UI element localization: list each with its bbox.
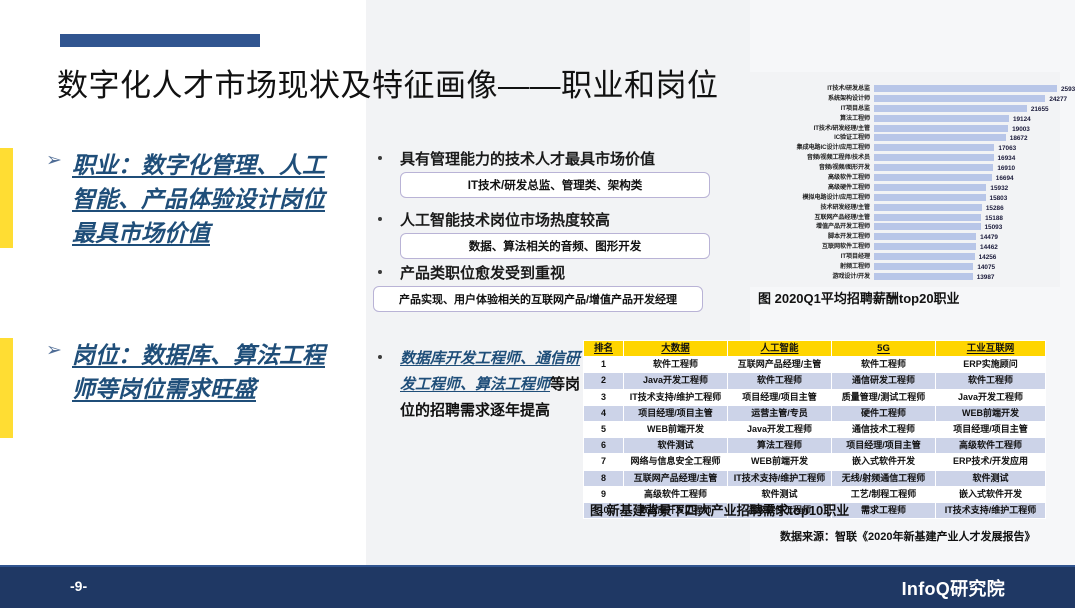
table-cell: 嵌入式软件开发 (936, 486, 1046, 502)
bar-fill (874, 164, 993, 171)
table-cell: 运营主管/专员 (728, 405, 832, 421)
table-cell: Java开发工程师 (624, 373, 728, 389)
table-header-cell: 大数据 (624, 341, 728, 357)
table-row: 5WEB前端开发Java开发工程师通信技术工程师项目经理/项目主管 (584, 422, 1046, 438)
bar-track: 14479 (874, 233, 1057, 240)
table-row: 7网络与信息安全工程师WEB前端开发嵌入式软件开发ERP技术/开发应用 (584, 454, 1046, 470)
bar-fill (874, 125, 1008, 132)
bar-fill (874, 174, 992, 181)
bar-track: 14256 (874, 253, 1057, 260)
table-cell: 高级软件工程师 (936, 438, 1046, 454)
bar-chart-row: 互联网产品经理/主管15188 (752, 213, 1057, 223)
bar-fill (874, 115, 1009, 122)
bar-track: 16694 (874, 174, 1057, 181)
salary-bar-chart: IT技术/研发总监25932系统架构设计师24277IT项目总监21655算法工… (752, 84, 1057, 282)
bar-track: 19124 (874, 115, 1057, 122)
bar-chart-row: 算法工程师19124 (752, 114, 1057, 124)
bar-fill (874, 223, 981, 230)
key-point-1-label: 职业：数字化管理、人工智能、产品体验设计岗位最具市场价值 (72, 148, 334, 250)
bar-chart-row: IT技术/研发总监25932 (752, 84, 1057, 94)
table-cell: WEB前端开发 (624, 422, 728, 438)
page-title: 数字化人才市场现状及特征画像——职业和岗位 (57, 60, 719, 105)
table-cell: 软件测试 (624, 438, 728, 454)
bar-chart-row: IC验证工程师18672 (752, 133, 1057, 143)
bar-chart-row: IT项目总监21655 (752, 104, 1057, 114)
bullet-dot-icon (378, 156, 382, 160)
bar-value-label: 13987 (977, 273, 995, 283)
bar-category-label: IT项目总监 (752, 104, 870, 114)
table-cell: 项目经理/项目主管 (832, 438, 936, 454)
bar-category-label: IT项目经理 (752, 252, 870, 262)
bar-track: 15188 (874, 214, 1057, 221)
bar-chart-row: 游戏设计/开发13987 (752, 272, 1057, 282)
bar-fill (874, 273, 973, 280)
table-cell: WEB前端开发 (728, 454, 832, 470)
bar-category-label: 集成电路IC设计/应用工程师 (752, 143, 870, 153)
bar-category-label: 音频/视频/图形开发 (752, 163, 870, 173)
footer-bar: -9- InfoQ研究院 (0, 567, 1075, 608)
bar-chart-row: 系统架构设计师24277 (752, 94, 1057, 104)
table-header-cell: 5G (832, 341, 936, 357)
table-cell: IT技术支持/维护工程师 (936, 503, 1046, 519)
bar-chart-row: 音频/视频工程师/技术员16934 (752, 153, 1057, 163)
table-header-row: 排名大数据人工智能5G工业互联网 (584, 341, 1046, 357)
bar-track: 13987 (874, 273, 1057, 280)
bar-track: 25932 (874, 85, 1057, 92)
bar-chart-row: 高级硬件工程师15932 (752, 183, 1057, 193)
bar-fill (874, 233, 976, 240)
bullet-1-chip: IT技术/研发总监、管理类、架构类 (400, 172, 710, 198)
title-accent-bar (60, 34, 260, 47)
bar-track: 15803 (874, 194, 1057, 201)
bar-chart-row: IT技术/研发经理/主管19003 (752, 124, 1057, 134)
table-cell: 软件测试 (936, 470, 1046, 486)
table-cell: 网络与信息安全工程师 (624, 454, 728, 470)
bar-chart-row: IT项目经理14256 (752, 252, 1057, 262)
bar-category-label: 射频工程师 (752, 262, 870, 272)
table-cell: 通信技术工程师 (832, 422, 936, 438)
bar-track: 15932 (874, 184, 1057, 191)
key-point-1-accent (0, 148, 13, 248)
bar-fill (874, 243, 976, 250)
table-row: 3IT技术支持/维护工程师项目经理/项目主管质量管理/测试工程师Java开发工程… (584, 389, 1046, 405)
bullet-2-heading: 人工智能技术岗位市场热度较高 (400, 209, 610, 230)
bar-category-label: 算法工程师 (752, 114, 870, 124)
bar-track: 14462 (874, 243, 1057, 250)
bar-fill (874, 204, 982, 211)
bar-category-label: IT技术/研发总监 (752, 84, 870, 94)
bar-category-label: 增值产品开发工程师 (752, 222, 870, 232)
bar-fill (874, 214, 981, 221)
table-rank-cell: 6 (584, 438, 624, 454)
bar-track: 19003 (874, 125, 1057, 132)
table-cell: 嵌入式软件开发 (832, 454, 936, 470)
table-cell: IT技术支持/维护工程师 (728, 470, 832, 486)
bar-category-label: 模拟电路设计/应用工程师 (752, 193, 870, 203)
bar-fill (874, 144, 994, 151)
bar-category-label: 系统架构设计师 (752, 94, 870, 104)
bar-category-label: 高级软件工程师 (752, 173, 870, 183)
table-cell: 互联网产品经理/主管 (624, 470, 728, 486)
table-cell: ERP实施顾问 (936, 357, 1046, 373)
table-header-cell: 人工智能 (728, 341, 832, 357)
table-cell: 互联网产品经理/主管 (728, 357, 832, 373)
table-header-cell: 工业互联网 (936, 341, 1046, 357)
table-cell: 项目经理/项目主管 (624, 405, 728, 421)
table-rank-cell: 7 (584, 454, 624, 470)
bullet-1-heading: 具有管理能力的技术人才最具市场价值 (400, 148, 655, 169)
table-cell: 硬件工程师 (832, 405, 936, 421)
bar-fill (874, 184, 986, 191)
table-cell: IT技术支持/维护工程师 (624, 389, 728, 405)
bar-track: 16934 (874, 154, 1057, 161)
table-cell: 质量管理/测试工程师 (832, 389, 936, 405)
bar-track: 16910 (874, 164, 1057, 171)
table-rank-cell: 1 (584, 357, 624, 373)
bar-track: 18672 (874, 134, 1057, 141)
table-rank-cell: 4 (584, 405, 624, 421)
table-header-cell: 排名 (584, 341, 624, 357)
bullet-3-chip: 产品实现、用户体验相关的互联网产品/增值产品开发经理 (373, 286, 703, 312)
bar-track: 24277 (874, 95, 1057, 102)
bar-category-label: 高级硬件工程师 (752, 183, 870, 193)
bar-fill (874, 253, 975, 260)
bullet-dot-icon (378, 355, 382, 359)
table-cell: WEB前端开发 (936, 405, 1046, 421)
page-number: -9- (70, 578, 87, 594)
table-cell: 软件工程师 (624, 357, 728, 373)
bar-chart-row: 模拟电路设计/应用工程师15803 (752, 193, 1057, 203)
bar-value-label: 25932 (1061, 85, 1075, 95)
bar-chart-row: 射频工程师14075 (752, 262, 1057, 272)
bar-chart-row: 技术研发经理/主管15286 (752, 203, 1057, 213)
bar-chart-row: 脚本开发工程师14479 (752, 232, 1057, 242)
middle-paragraph-text: 数据库开发工程师、通信研发工程师、算法工程师等岗位的招聘需求逐年提高 (400, 346, 590, 424)
key-point-2-arrow-icon: ➢ (46, 341, 62, 360)
bar-category-label: 互联网产品经理/主管 (752, 213, 870, 223)
table-cell: ERP技术/开发应用 (936, 454, 1046, 470)
bar-chart-row: 互联网软件工程师14462 (752, 242, 1057, 252)
bar-category-label: IC验证工程师 (752, 133, 870, 143)
bar-category-label: 音频/视频工程师/技术员 (752, 153, 870, 163)
bullet-dot-icon (378, 217, 382, 221)
table-row: 4项目经理/项目主管运营主管/专员硬件工程师WEB前端开发 (584, 405, 1046, 421)
table-cell: 无线/射频通信工程师 (832, 470, 936, 486)
source-note: 数据来源：智联《2020年新基建产业人才发展报告》 (780, 528, 1035, 544)
bar-track: 14075 (874, 263, 1057, 270)
table-caption: 图 新基建背景下四大产业招聘需求top10职业 (590, 500, 849, 519)
table-cell: 算法工程师 (728, 438, 832, 454)
key-point-2-label: 岗位：数据库、算法工程师等岗位需求旺盛 (72, 338, 334, 406)
bar-fill (874, 105, 1027, 112)
table-row: 6软件测试算法工程师项目经理/项目主管高级软件工程师 (584, 438, 1046, 454)
bar-track: 15093 (874, 223, 1057, 230)
demand-table: 排名大数据人工智能5G工业互联网1软件工程师互联网产品经理/主管软件工程师ERP… (583, 340, 1046, 519)
table-rank-cell: 8 (584, 470, 624, 486)
bullet-dot-icon (378, 270, 382, 274)
table-cell: 软件工程师 (728, 373, 832, 389)
bar-fill (874, 194, 986, 201)
table-row: 8互联网产品经理/主管IT技术支持/维护工程师无线/射频通信工程师软件测试 (584, 470, 1046, 486)
bar-track: 15286 (874, 204, 1057, 211)
bar-category-label: IT技术/研发经理/主管 (752, 124, 870, 134)
bar-category-label: 脚本开发工程师 (752, 232, 870, 242)
bar-track: 21655 (874, 105, 1057, 112)
bar-category-label: 互联网软件工程师 (752, 242, 870, 252)
table-rank-cell: 3 (584, 389, 624, 405)
table-rank-cell: 5 (584, 422, 624, 438)
bar-track: 17063 (874, 144, 1057, 151)
bar-fill (874, 154, 994, 161)
table-cell: 项目经理/项目主管 (728, 389, 832, 405)
bar-fill (874, 85, 1057, 92)
bar-chart-row: 集成电路IC设计/应用工程师17063 (752, 143, 1057, 153)
table-cell: 软件工程师 (936, 373, 1046, 389)
bullet-3-heading: 产品类职位愈发受到重视 (400, 262, 565, 283)
slide-canvas: 数字化人才市场现状及特征画像——职业和岗位 ➢ 职业：数字化管理、人工智能、产品… (0, 0, 1075, 608)
bar-category-label: 游戏设计/开发 (752, 272, 870, 282)
bar-chart-row: 音频/视频/图形开发16910 (752, 163, 1057, 173)
table-rank-cell: 2 (584, 373, 624, 389)
bar-category-label: 技术研发经理/主管 (752, 203, 870, 213)
table-cell: Java开发工程师 (728, 422, 832, 438)
bullet-2-chip: 数据、算法相关的音频、图形开发 (400, 233, 710, 259)
table-cell: 项目经理/项目主管 (936, 422, 1046, 438)
bar-fill (874, 134, 1006, 141)
brand-label: InfoQ研究院 (902, 575, 1005, 601)
key-point-2-accent (0, 338, 13, 438)
bar-chart-row: 高级软件工程师16694 (752, 173, 1057, 183)
table-row: 1软件工程师互联网产品经理/主管软件工程师ERP实施顾问 (584, 357, 1046, 373)
table-cell: 通信研发工程师 (832, 373, 936, 389)
key-point-1-arrow-icon: ➢ (46, 151, 62, 170)
table-cell: Java开发工程师 (936, 389, 1046, 405)
table-row: 2Java开发工程师软件工程师通信研发工程师软件工程师 (584, 373, 1046, 389)
bar-chart-row: 增值产品开发工程师15093 (752, 222, 1057, 232)
bar-fill (874, 263, 973, 270)
table-cell: 软件工程师 (832, 357, 936, 373)
chart-caption: 图 2020Q1平均招聘薪酬top20职业 (758, 288, 960, 307)
bar-fill (874, 95, 1045, 102)
